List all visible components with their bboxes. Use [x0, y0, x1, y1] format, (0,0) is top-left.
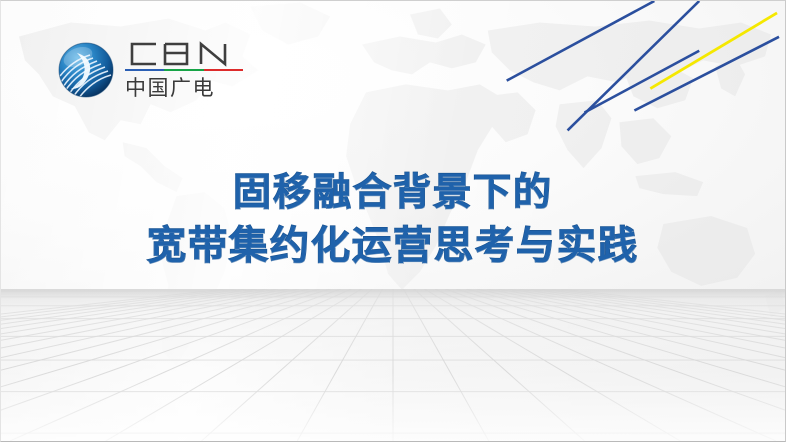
deco-line-yellow-1: [650, 13, 777, 89]
grid-receding-line: [424, 289, 680, 441]
grid-receding-line: [297, 289, 382, 441]
logo-tricolor-rule: [125, 69, 243, 71]
grid-receding-line: [1, 289, 257, 441]
grid-receding-line: [540, 289, 785, 441]
grid-receding-line: [456, 289, 785, 441]
grid-receding-line: [403, 289, 488, 441]
perspective-grid-floor: [1, 289, 785, 441]
globe-icon: [57, 41, 115, 99]
grid-receding-line: [106, 289, 362, 441]
logo-cbn-lettering: [125, 41, 243, 67]
brand-logo: 中国广电: [57, 39, 243, 100]
slide-title: 固移融合背景下的 宽带集约化运营思考与实践: [1, 169, 785, 271]
deco-line-blue-2: [507, 1, 655, 81]
grid-receding-line: [414, 289, 585, 441]
grid-receding-line: [1, 289, 330, 441]
deco-line-blue-3: [585, 51, 700, 113]
grid-receding-line: [10, 289, 351, 441]
grid-receding-line: [1, 289, 341, 441]
logo-chinese-name: 中国广电: [125, 76, 243, 100]
grid-receding-line: [445, 289, 785, 441]
grid-receding-line: [201, 289, 372, 441]
deco-line-blue-4: [634, 37, 779, 111]
title-line-2: 宽带集约化运营思考与实践: [1, 223, 785, 271]
tricolor-red-segment: [204, 69, 243, 71]
logo-wordmark: 中国广电: [125, 39, 243, 100]
grid-receding-line: [550, 289, 785, 441]
presentation-slide: 中国广电 固移融合背景下的 宽带集约化运营思考与实践: [0, 0, 786, 442]
title-line-1: 固移融合背景下的: [1, 169, 785, 215]
grid-receding-line: [1, 289, 246, 441]
deco-line-blue-1: [568, 1, 700, 130]
grid-receding-line: [529, 289, 785, 441]
tricolor-blue-segment: [125, 69, 164, 71]
tricolor-green-segment: [164, 69, 203, 71]
grid-receding-line: [435, 289, 776, 441]
grid-receding-line: [1, 289, 236, 441]
